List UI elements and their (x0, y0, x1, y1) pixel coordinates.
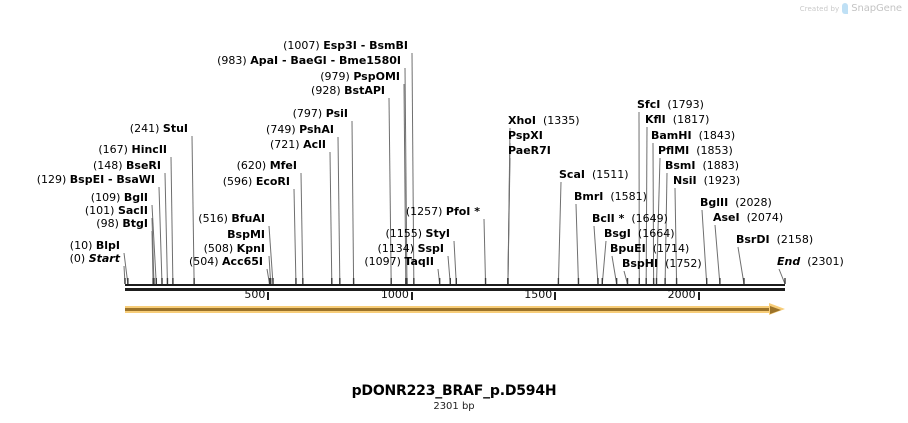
leader-line (269, 226, 273, 284)
enzyme-position: (1853) (696, 144, 733, 157)
enzyme-name: Start (89, 252, 120, 265)
enzyme-name: XhoI (508, 114, 536, 127)
enzyme-label[interactable]: (241) StuI (130, 123, 188, 136)
enzyme-position: (983) (217, 54, 247, 67)
enzyme-name: PshAI (299, 123, 334, 136)
leader-line (508, 143, 510, 284)
leader-line (624, 271, 628, 284)
enzyme-position: (596) (223, 175, 253, 188)
enzyme-name: PspOMI (353, 70, 400, 83)
enzyme-name: Acc65I (222, 255, 263, 268)
enzyme-name: PsiI (326, 107, 348, 120)
enzyme-name: PflMI (658, 144, 689, 157)
enzyme-position: (1793) (667, 98, 704, 111)
enzyme-position: (504) (189, 255, 219, 268)
leader-line (448, 256, 450, 284)
enzyme-position: (508) (204, 242, 234, 255)
leader-line (165, 173, 167, 284)
axis-tick-label: 1000 (381, 288, 411, 301)
leader-line (301, 173, 303, 284)
enzyme-position: (2028) (735, 196, 772, 209)
axis-tick (698, 292, 700, 300)
leader-line (124, 253, 128, 284)
leader-line (124, 266, 125, 284)
enzyme-position: (797) (293, 107, 323, 120)
enzyme-label[interactable]: NsiI (1923) (673, 175, 740, 188)
enzyme-position: (1649) (631, 212, 668, 225)
enzyme-position: (1007) (283, 39, 320, 52)
enzyme-label[interactable]: BclI * (1649) (592, 213, 668, 226)
orf-arrow (125, 303, 785, 316)
leader-line (738, 247, 744, 284)
enzyme-name: BspHI (622, 257, 658, 270)
enzyme-position: (1335) (543, 114, 580, 127)
enzyme-name: BfuAI (231, 212, 265, 225)
enzyme-position: (1923) (704, 174, 741, 187)
ruler-bar-top (125, 284, 785, 286)
enzyme-position: (241) (130, 122, 160, 135)
enzyme-name: BglII (700, 196, 728, 209)
enzyme-name: KflI (645, 113, 666, 126)
enzyme-name: BlpI (96, 239, 120, 252)
enzyme-position: (516) (198, 212, 228, 225)
leader-line (779, 269, 785, 284)
enzyme-name: PfoI * (446, 205, 480, 218)
enzyme-label[interactable]: PflMI (1853) (658, 145, 733, 158)
axis-tick-label: 500 (244, 288, 267, 301)
enzyme-label[interactable]: (148) BseRI (93, 160, 161, 173)
enzyme-name: MfeI (270, 159, 297, 172)
enzyme-position: (101) (85, 204, 115, 217)
enzyme-position: (620) (237, 159, 267, 172)
enzyme-name: BstAPI (344, 84, 385, 97)
enzyme-name: AseI (713, 211, 740, 224)
leader-line (294, 189, 296, 284)
enzyme-position: (10) (70, 239, 93, 252)
enzyme-position: (1511) (592, 168, 629, 181)
axis-tick (267, 292, 269, 300)
axis-tick (554, 292, 556, 300)
enzyme-name: BtgI (122, 217, 148, 230)
enzyme-position: (129) (37, 173, 67, 186)
enzyme-position: (1097) (364, 255, 401, 268)
enzyme-position: (109) (91, 191, 121, 204)
enzyme-name: SfcI (637, 98, 660, 111)
leader-line (267, 269, 270, 284)
enzyme-label[interactable]: (596) EcoRI (223, 176, 290, 189)
leader-line (438, 269, 440, 284)
leader-line (152, 231, 153, 284)
enzyme-name: BspEI - BsaWI (70, 173, 155, 186)
axis-tick-label: 2000 (668, 288, 698, 301)
enzyme-label[interactable]: (504) Acc65I (189, 256, 263, 269)
leader-line (330, 152, 332, 284)
enzyme-name: KpnI (237, 242, 265, 255)
leader-line (715, 225, 720, 284)
leader-line (508, 158, 510, 284)
enzyme-name: BspMI (227, 228, 265, 241)
enzyme-label[interactable]: (508) KpnI (204, 243, 265, 256)
enzyme-name: BglI (124, 191, 148, 204)
enzyme-position: (979) (320, 70, 350, 83)
enzyme-label[interactable]: (1257) PfoI * (406, 206, 480, 219)
enzyme-name: Esp3I - BsmBI (323, 39, 408, 52)
enzyme-name: BpuEI (610, 242, 646, 255)
enzyme-label[interactable]: (0) Start (70, 253, 120, 266)
leader-line (558, 182, 561, 284)
enzyme-position: (1664) (638, 227, 675, 240)
enzyme-position: (1581) (610, 190, 647, 203)
leader-line (152, 218, 154, 284)
enzyme-name: EcoRI (256, 175, 290, 188)
enzyme-label[interactable]: PaeR7I (508, 145, 551, 158)
leader-line (269, 256, 271, 284)
enzyme-position: (167) (98, 143, 128, 156)
enzyme-label[interactable]: (101) SacII (85, 205, 148, 218)
enzyme-label[interactable]: (10) BlpI (70, 240, 120, 253)
enzyme-name: BamHI (651, 129, 692, 142)
enzyme-label[interactable]: (620) MfeI (237, 160, 297, 173)
enzyme-label[interactable]: BsgI (1664) (604, 228, 674, 241)
leader-line (594, 226, 598, 284)
enzyme-label[interactable]: AseI (2074) (713, 212, 783, 225)
enzyme-position: (1134) (377, 242, 414, 255)
enzyme-label[interactable]: (109) BglI (91, 192, 148, 205)
orf-arrow-head-core (770, 306, 781, 314)
enzyme-position: (1155) (385, 227, 422, 240)
enzyme-label[interactable]: BamHI (1843) (651, 130, 735, 143)
enzyme-name: ApaI - BaeGI - Bme1580I (250, 54, 401, 67)
enzyme-position: (0) (70, 252, 86, 265)
plasmid-name: pDONR223_BRAF_p.D594H (0, 383, 908, 399)
enzyme-label[interactable]: BspMI (227, 229, 265, 242)
enzyme-position: (749) (266, 123, 296, 136)
enzyme-name: TaqII (404, 255, 434, 268)
enzyme-position: (928) (311, 84, 341, 97)
enzyme-position: (1817) (673, 113, 710, 126)
enzyme-label[interactable]: KflI (1817) (645, 114, 709, 127)
enzyme-name: BmrI (574, 190, 603, 203)
leader-line (702, 210, 707, 284)
leader-line (454, 241, 456, 284)
enzyme-name: HincII (131, 143, 167, 156)
enzyme-name: SspI (418, 242, 444, 255)
enzyme-name: End (777, 255, 800, 268)
enzyme-label[interactable]: (1097) TaqII (364, 256, 434, 269)
enzyme-name: BseRI (126, 159, 161, 172)
enzyme-label[interactable]: (1155) StyI (385, 228, 450, 241)
leader-line (338, 137, 340, 284)
enzyme-position: (1714) (653, 242, 690, 255)
enzyme-label[interactable]: (979) PspOMI (320, 71, 400, 84)
enzyme-label[interactable]: (1134) SspI (377, 243, 444, 256)
leader-line (484, 219, 486, 284)
leader-line (159, 187, 162, 284)
axis-tick (411, 292, 413, 300)
enzyme-label[interactable]: BspHI (1752) (622, 258, 702, 271)
leader-line (576, 204, 578, 284)
leader-line (152, 205, 156, 284)
enzyme-label[interactable]: (129) BspEI - BsaWI (37, 174, 155, 187)
enzyme-label[interactable]: BsmI (1883) (665, 160, 739, 173)
orf-arrow-shaft-core (125, 308, 773, 311)
enzyme-label[interactable]: BpuEI (1714) (610, 243, 689, 256)
enzyme-name: BsgI (604, 227, 631, 240)
leader-line (612, 256, 617, 284)
enzyme-name: BsmI (665, 159, 696, 172)
leader-line (352, 121, 354, 284)
enzyme-position: (1752) (665, 257, 702, 270)
enzyme-label[interactable]: BglII (2028) (700, 197, 772, 210)
enzyme-position: (2301) (807, 255, 844, 268)
enzyme-label[interactable]: XhoI (1335) (508, 115, 580, 128)
enzyme-label[interactable]: (797) PsiI (293, 108, 348, 121)
leader-line (171, 157, 173, 284)
enzyme-label[interactable]: BmrI (1581) (574, 191, 647, 204)
leader-line (602, 241, 606, 284)
enzyme-name: ScaI (559, 168, 585, 181)
enzyme-label[interactable]: (167) HincII (98, 144, 167, 157)
enzyme-label[interactable]: SfcI (1793) (637, 99, 704, 112)
enzyme-name: PspXI (508, 129, 543, 142)
enzyme-label[interactable]: End (2301) (777, 256, 844, 269)
enzyme-name: PaeR7I (508, 144, 551, 157)
enzyme-name: AclI (303, 138, 326, 151)
enzyme-label[interactable]: (98) BtgI (96, 218, 148, 231)
enzyme-label[interactable]: (928) BstAPI (311, 85, 385, 98)
enzyme-name: BclI * (592, 212, 624, 225)
enzyme-position: (2158) (777, 233, 814, 246)
enzyme-position: (148) (93, 159, 123, 172)
enzyme-position: (2074) (747, 211, 784, 224)
enzyme-name: StuI (163, 122, 188, 135)
enzyme-name: StyI (426, 227, 450, 240)
axis-tick-label: 1500 (524, 288, 554, 301)
enzyme-name: NsiI (673, 174, 697, 187)
enzyme-name: BsrDI (736, 233, 770, 246)
plasmid-length: 2301 bp (0, 401, 908, 412)
enzyme-position: (1843) (699, 129, 736, 142)
enzyme-label[interactable]: (983) ApaI - BaeGI - Bme1580I (217, 55, 401, 68)
enzyme-label[interactable]: (749) PshAI (266, 124, 334, 137)
enzyme-position: (1257) (406, 205, 443, 218)
enzyme-label[interactable]: (1007) Esp3I - BsmBI (283, 40, 408, 53)
enzyme-label[interactable]: (721) AclI (270, 139, 326, 152)
enzyme-position: (721) (270, 138, 300, 151)
enzyme-label[interactable]: ScaI (1511) (559, 169, 629, 182)
enzyme-name: SacII (118, 204, 148, 217)
enzyme-label[interactable]: BsrDI (2158) (736, 234, 813, 247)
enzyme-label[interactable]: (516) BfuAI (198, 213, 265, 226)
enzyme-position: (1883) (703, 159, 740, 172)
enzyme-position: (98) (96, 217, 119, 230)
enzyme-label[interactable]: PspXI (508, 130, 543, 143)
restriction-map: (0) Start(10) BlpI(98) BtgI(101) SacII(1… (0, 0, 908, 340)
